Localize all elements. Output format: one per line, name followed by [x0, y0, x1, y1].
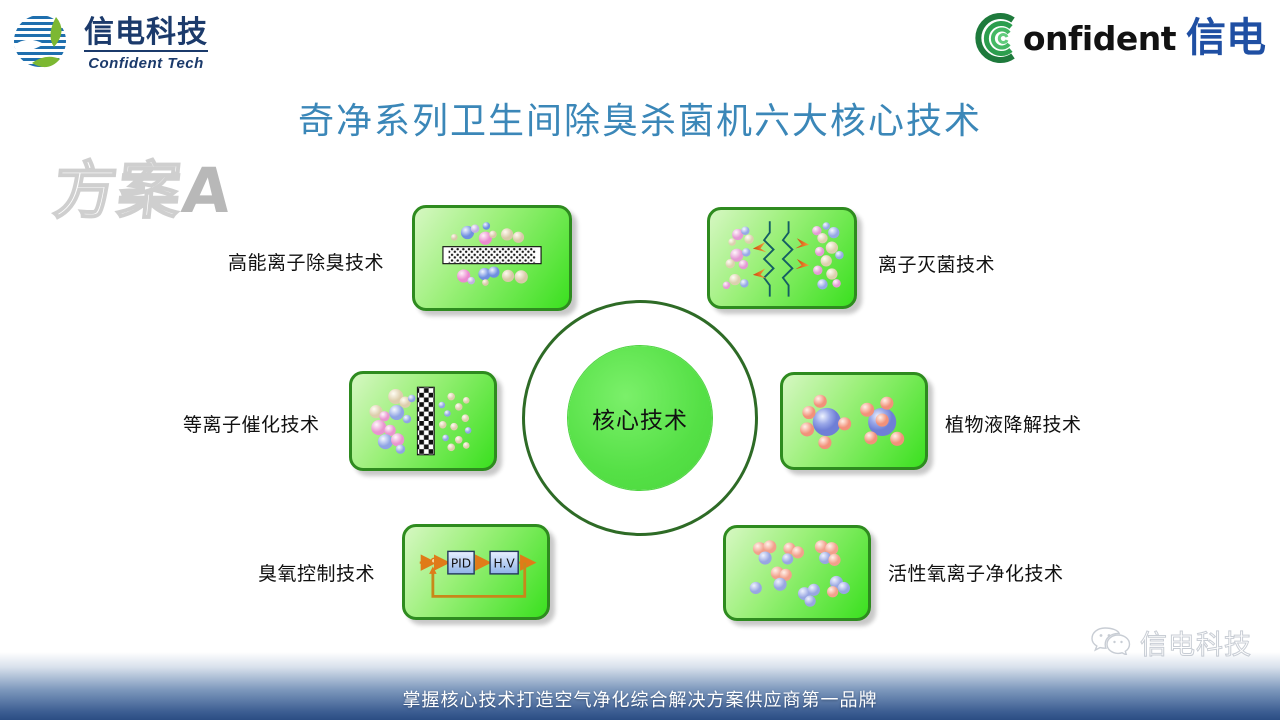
left-brand-logo: 信电科技 Confident Tech	[10, 8, 310, 80]
plan-watermark-letter: A	[179, 154, 237, 227]
label-ozone-control: 臭氧控制技术	[258, 559, 375, 586]
label-high-energy-ion-deodorization: 高能离子除臭技术	[228, 248, 384, 275]
card-active-oxygen-ion-purify[interactable]	[723, 525, 871, 621]
zigzag-barrier-icon	[710, 210, 854, 306]
wechat-icon	[1090, 625, 1132, 660]
card-plasma-catalysis[interactable]	[349, 371, 497, 471]
plan-watermark: 方案A	[50, 140, 237, 230]
left-logo-cn-name: 信电科技	[84, 18, 208, 52]
right-brand-logo: onfident 信电	[969, 8, 1266, 68]
label-active-oxygen-ion-purify: 活性氧离子净化技术	[888, 559, 1064, 586]
label-plant-liquid-degradation: 植物液降解技术	[945, 410, 1082, 437]
core-technology-hub: 核心技术	[568, 346, 712, 490]
pid-block-label: PID	[451, 556, 471, 570]
card-ozone-control[interactable]: PID H.V	[402, 524, 550, 620]
hv-block-label: H.V	[494, 556, 516, 570]
plan-watermark-cn: 方案	[51, 154, 187, 227]
scattered-molecules-icon	[726, 528, 868, 618]
speckled-filter-bar-icon	[415, 208, 569, 308]
core-hub-label: 核心技术	[592, 401, 688, 435]
label-plasma-catalysis: 等离子催化技术	[183, 410, 320, 437]
left-logo-en-name: Confident Tech	[84, 56, 208, 71]
molecule-pair-icon	[783, 375, 925, 467]
right-logo-en-name: onfident	[1023, 19, 1176, 58]
card-ion-sterilization[interactable]	[707, 207, 857, 309]
globe-leaf-logo-icon	[10, 11, 76, 77]
label-ion-sterilization: 离子灭菌技术	[878, 250, 995, 277]
c-swirl-icon	[969, 12, 1019, 64]
right-logo-cn-name: 信电	[1186, 18, 1266, 58]
wechat-account-name: 信电科技	[1140, 623, 1252, 662]
card-high-energy-ion-deodorization[interactable]	[412, 205, 572, 311]
wechat-watermark: 信电科技	[1090, 623, 1252, 662]
checkerboard-catalyst-icon	[352, 374, 494, 468]
page-title: 奇净系列卫生间除臭杀菌机六大核心技术	[0, 92, 1280, 144]
card-plant-liquid-degradation[interactable]	[780, 372, 928, 470]
pid-hv-loop-icon: PID H.V	[405, 527, 547, 617]
footer-slogan: 掌握核心技术打造空气净化综合解决方案供应商第一品牌	[0, 686, 1280, 712]
